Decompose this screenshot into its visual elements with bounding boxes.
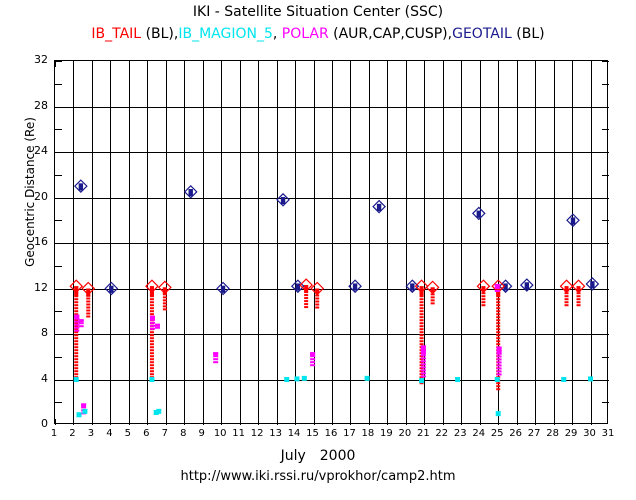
data-point-dot bbox=[420, 325, 424, 327]
x-tick-label: 2 bbox=[62, 428, 82, 439]
y-tick-label: 28 bbox=[8, 99, 48, 112]
data-point-dot bbox=[150, 355, 154, 357]
data-point-dot bbox=[150, 367, 154, 369]
data-point-dot bbox=[150, 340, 154, 342]
x-tick-label: 5 bbox=[118, 428, 138, 439]
data-point-dot bbox=[74, 370, 78, 372]
data-point-dot bbox=[481, 298, 485, 300]
data-trace-head bbox=[163, 287, 167, 294]
x-tick-label: 21 bbox=[413, 428, 433, 439]
data-point-dot bbox=[74, 343, 78, 345]
data-point-dot bbox=[496, 301, 500, 303]
data-point-dot bbox=[304, 294, 308, 296]
data-trace-head bbox=[81, 403, 86, 406]
data-point-dot bbox=[431, 302, 435, 304]
data-point-dot bbox=[481, 292, 485, 294]
data-point-dot bbox=[304, 300, 308, 302]
x-tick-label: 31 bbox=[598, 428, 618, 439]
data-point-dot bbox=[315, 304, 319, 306]
data-point-dot bbox=[496, 310, 500, 312]
y-tick-label: 16 bbox=[8, 235, 48, 248]
data-point-dot bbox=[150, 370, 154, 372]
data-point-dot bbox=[74, 324, 79, 326]
data-point-dot bbox=[315, 298, 319, 300]
data-point-dot bbox=[421, 366, 426, 368]
data-point-dot bbox=[150, 343, 154, 345]
data-point-dot bbox=[496, 334, 500, 336]
x-axis-label: July2000 bbox=[0, 448, 636, 464]
plot-area bbox=[54, 60, 608, 424]
data-point-dot bbox=[74, 340, 78, 342]
data-point-dot bbox=[310, 364, 315, 366]
data-point-dot bbox=[86, 310, 90, 312]
data-point-dot bbox=[74, 304, 78, 306]
data-point-dot bbox=[150, 334, 154, 336]
data-point-dot bbox=[565, 298, 569, 300]
data-point-dot bbox=[163, 296, 167, 298]
marker-square bbox=[561, 377, 566, 382]
data-point-dot bbox=[421, 363, 426, 365]
data-point-dot bbox=[213, 355, 218, 357]
x-tick-label: 1 bbox=[44, 428, 64, 439]
data-point-dot bbox=[421, 369, 426, 371]
data-trace-head bbox=[420, 286, 424, 296]
x-tick-label: 11 bbox=[229, 428, 249, 439]
legend-part-7: (BL) bbox=[512, 26, 545, 42]
data-trace-head bbox=[150, 286, 154, 296]
marker-diamond-core bbox=[296, 283, 300, 290]
x-tick-label: 27 bbox=[524, 428, 544, 439]
data-point-dot bbox=[163, 299, 167, 301]
x-tick-label: 12 bbox=[247, 428, 267, 439]
data-point-dot bbox=[431, 296, 435, 298]
data-point-dot bbox=[420, 310, 424, 312]
marker-square bbox=[294, 376, 299, 381]
data-point-dot bbox=[163, 305, 167, 307]
data-trace-head bbox=[155, 324, 160, 327]
x-tick-label: 22 bbox=[432, 428, 452, 439]
data-point-dot bbox=[565, 292, 569, 294]
data-point-dot bbox=[497, 356, 502, 358]
marker-diamond-core bbox=[109, 286, 113, 293]
data-point-dot bbox=[74, 373, 78, 375]
data-point-dot bbox=[150, 298, 154, 300]
data-point-dot bbox=[577, 301, 581, 303]
legend-part-4: POLAR bbox=[282, 26, 333, 42]
data-point-dot bbox=[420, 337, 424, 339]
data-point-dot bbox=[420, 334, 424, 336]
data-point-dot bbox=[420, 331, 424, 333]
data-point-dot bbox=[74, 346, 78, 348]
data-trace-head bbox=[86, 289, 90, 297]
x-tick-label: 6 bbox=[136, 428, 156, 439]
y-tick-label: 32 bbox=[8, 53, 48, 66]
data-trace-head bbox=[431, 287, 435, 292]
data-point-dot bbox=[421, 354, 426, 356]
data-trace-head bbox=[565, 286, 569, 292]
data-trace-head bbox=[315, 289, 319, 294]
data-point-dot bbox=[420, 316, 424, 318]
marker-square bbox=[496, 411, 501, 416]
data-point-dot bbox=[421, 375, 426, 377]
data-point-dot bbox=[86, 313, 90, 315]
x-tick-label: 23 bbox=[450, 428, 470, 439]
legend-part-3: , bbox=[273, 26, 282, 42]
data-trace-head bbox=[74, 286, 78, 296]
x-tick-label: 19 bbox=[376, 428, 396, 439]
marker-diamond-core bbox=[571, 217, 575, 224]
y-tick-label: 0 bbox=[8, 417, 48, 430]
x-tick-label: 25 bbox=[487, 428, 507, 439]
data-point-dot bbox=[163, 302, 167, 304]
data-point-dot bbox=[497, 365, 502, 367]
x-tick-label: 20 bbox=[395, 428, 415, 439]
data-point-dot bbox=[79, 322, 84, 324]
chart-legend-line: IB_TAIL (BL),IB_MAGION_5, POLAR (AUR,CAP… bbox=[0, 26, 636, 42]
data-point-dot bbox=[79, 325, 84, 327]
marker-diamond-core bbox=[525, 282, 529, 289]
marker-diamond-core bbox=[79, 183, 83, 190]
data-point-dot bbox=[496, 331, 500, 333]
y-tick-label: 12 bbox=[8, 281, 48, 294]
data-point-dot bbox=[497, 374, 502, 376]
data-point-dot bbox=[150, 304, 154, 306]
data-point-dot bbox=[420, 322, 424, 324]
marker-square bbox=[302, 376, 307, 381]
data-point-dot bbox=[315, 301, 319, 303]
x-tick-label: 4 bbox=[99, 428, 119, 439]
data-point-dot bbox=[481, 304, 485, 306]
x-tick-label: 17 bbox=[339, 428, 359, 439]
data-point-dot bbox=[481, 295, 485, 297]
data-point-dot bbox=[81, 406, 86, 408]
data-point-dot bbox=[565, 301, 569, 303]
data-point-dot bbox=[74, 327, 79, 329]
data-point-dot bbox=[74, 301, 78, 303]
data-point-dot bbox=[577, 292, 581, 294]
data-point-dot bbox=[420, 307, 424, 309]
data-point-dot bbox=[496, 343, 500, 345]
data-point-dot bbox=[496, 322, 500, 324]
marker-square bbox=[74, 377, 79, 382]
data-point-dot bbox=[150, 313, 154, 315]
data-point-dot bbox=[74, 367, 78, 369]
data-point-dot bbox=[74, 330, 79, 332]
data-point-dot bbox=[310, 358, 315, 360]
data-trace-head bbox=[497, 347, 502, 355]
data-point-dot bbox=[496, 319, 500, 321]
data-point-dot bbox=[74, 361, 78, 363]
data-point-dot bbox=[150, 349, 154, 351]
data-point-dot bbox=[496, 382, 500, 384]
chart-title: IKI - Satellite Situation Center (SSC) bbox=[0, 4, 636, 20]
data-point-dot bbox=[496, 304, 500, 306]
data-trace-head bbox=[310, 352, 315, 356]
data-trace-head bbox=[495, 284, 500, 287]
data-point-dot bbox=[497, 371, 502, 373]
legend-part-5: (AUR,CAP,CUSP), bbox=[333, 26, 452, 42]
data-point-dot bbox=[497, 368, 502, 370]
data-point-dot bbox=[310, 361, 315, 363]
data-point-dot bbox=[74, 364, 78, 366]
x-axis-year: 2000 bbox=[320, 448, 356, 464]
data-point-dot bbox=[150, 364, 154, 366]
data-point-dot bbox=[496, 298, 500, 300]
data-point-dot bbox=[565, 304, 569, 306]
marker-square bbox=[77, 412, 82, 417]
x-tick-label: 7 bbox=[155, 428, 175, 439]
plot-canvas bbox=[55, 61, 609, 425]
data-trace-head bbox=[79, 319, 84, 322]
x-tick-label: 10 bbox=[210, 428, 230, 439]
data-point-dot bbox=[421, 357, 426, 359]
data-point-dot bbox=[421, 360, 426, 362]
marker-square bbox=[82, 409, 87, 414]
data-trace-head bbox=[421, 345, 426, 354]
figure-root: IKI - Satellite Situation Center (SSC) I… bbox=[0, 0, 636, 500]
data-point-dot bbox=[150, 358, 154, 360]
y-tick-label: 8 bbox=[8, 326, 48, 339]
data-point-dot bbox=[150, 337, 154, 339]
data-point-dot bbox=[86, 316, 90, 318]
data-point-dot bbox=[496, 325, 500, 327]
legend-part-2: IB_MAGION_5 bbox=[178, 26, 273, 42]
marker-diamond-core bbox=[477, 211, 481, 218]
data-point-dot bbox=[74, 358, 78, 360]
marker-diamond-core bbox=[377, 204, 381, 211]
y-tick-label: 4 bbox=[8, 372, 48, 385]
y-tick-label: 24 bbox=[8, 144, 48, 157]
marker-square bbox=[156, 409, 161, 414]
data-point-dot bbox=[496, 337, 500, 339]
marker-diamond-core bbox=[590, 281, 594, 288]
data-point-dot bbox=[86, 301, 90, 303]
x-tick-label: 24 bbox=[469, 428, 489, 439]
data-point-dot bbox=[496, 328, 500, 330]
data-point-dot bbox=[74, 349, 78, 351]
data-point-dot bbox=[420, 298, 424, 300]
marker-diamond-core bbox=[410, 283, 414, 290]
legend-part-0: IB_TAIL bbox=[91, 26, 145, 42]
x-tick-label: 18 bbox=[358, 428, 378, 439]
data-point-dot bbox=[497, 359, 502, 361]
data-point-dot bbox=[150, 310, 154, 312]
data-point-dot bbox=[431, 293, 435, 295]
data-point-dot bbox=[213, 358, 218, 360]
data-trace-head bbox=[74, 315, 79, 319]
marker-square bbox=[419, 378, 424, 383]
data-point-dot bbox=[315, 295, 319, 297]
data-point-dot bbox=[496, 388, 500, 390]
data-point-dot bbox=[86, 304, 90, 306]
x-tick-label: 8 bbox=[173, 428, 193, 439]
x-tick-label: 13 bbox=[266, 428, 286, 439]
data-point-dot bbox=[421, 372, 426, 374]
data-point-dot bbox=[420, 304, 424, 306]
data-point-dot bbox=[496, 313, 500, 315]
data-trace-head bbox=[150, 316, 155, 320]
data-trace-head bbox=[304, 285, 308, 292]
data-point-dot bbox=[86, 298, 90, 300]
data-point-dot bbox=[420, 301, 424, 303]
x-tick-label: 16 bbox=[321, 428, 341, 439]
x-tick-label: 30 bbox=[580, 428, 600, 439]
x-tick-label: 9 bbox=[192, 428, 212, 439]
data-point-dot bbox=[420, 319, 424, 321]
data-point-dot bbox=[150, 328, 155, 330]
data-point-dot bbox=[213, 361, 218, 363]
data-point-dot bbox=[577, 298, 581, 300]
data-point-dot bbox=[150, 331, 154, 333]
data-point-dot bbox=[86, 307, 90, 309]
data-point-dot bbox=[150, 373, 154, 375]
data-point-dot bbox=[304, 306, 308, 308]
data-point-dot bbox=[420, 328, 424, 330]
x-tick-label: 3 bbox=[81, 428, 101, 439]
data-point-dot bbox=[304, 297, 308, 299]
marker-square bbox=[588, 376, 593, 381]
data-point-dot bbox=[150, 361, 154, 363]
data-trace-head bbox=[213, 352, 218, 355]
data-point-dot bbox=[150, 322, 155, 324]
data-trace-head bbox=[481, 286, 485, 291]
marker-square bbox=[455, 377, 460, 382]
data-point-dot bbox=[163, 308, 167, 310]
data-point-dot bbox=[496, 340, 500, 342]
data-point-dot bbox=[495, 290, 500, 292]
x-tick-label: 26 bbox=[506, 428, 526, 439]
y-tick-label: 20 bbox=[8, 190, 48, 203]
marker-square bbox=[149, 377, 154, 382]
data-point-dot bbox=[577, 304, 581, 306]
marker-square bbox=[365, 376, 370, 381]
data-point-dot bbox=[74, 310, 78, 312]
data-point-dot bbox=[74, 355, 78, 357]
data-point-dot bbox=[577, 295, 581, 297]
marker-square bbox=[495, 377, 500, 382]
data-point-dot bbox=[150, 301, 154, 303]
data-point-dot bbox=[74, 321, 79, 323]
data-point-dot bbox=[495, 287, 500, 289]
x-tick-label: 15 bbox=[303, 428, 323, 439]
data-point-dot bbox=[497, 362, 502, 364]
marker-diamond-core bbox=[221, 286, 225, 293]
legend-part-1: (BL), bbox=[146, 26, 179, 42]
data-point-dot bbox=[565, 295, 569, 297]
data-point-dot bbox=[420, 313, 424, 315]
data-point-dot bbox=[496, 316, 500, 318]
x-axis-month: July bbox=[281, 448, 306, 464]
data-point-dot bbox=[150, 346, 154, 348]
data-point-dot bbox=[150, 325, 155, 327]
data-point-dot bbox=[304, 303, 308, 305]
data-point-dot bbox=[150, 352, 154, 354]
x-tick-label: 28 bbox=[543, 428, 563, 439]
data-point-dot bbox=[74, 352, 78, 354]
source-url: http://www.iki.rssi.ru/vprokhor/camp2.ht… bbox=[0, 469, 636, 484]
data-point-dot bbox=[74, 337, 78, 339]
data-point-dot bbox=[420, 343, 424, 345]
data-point-dot bbox=[431, 299, 435, 301]
legend-part-6: GEOTAIL bbox=[452, 26, 512, 42]
data-point-dot bbox=[74, 334, 78, 336]
data-point-dot bbox=[74, 307, 78, 309]
data-point-dot bbox=[74, 298, 78, 300]
x-tick-label: 29 bbox=[561, 428, 581, 439]
data-point-dot bbox=[155, 327, 160, 329]
marker-diamond-core bbox=[353, 283, 357, 290]
data-trace-head bbox=[577, 286, 581, 292]
x-tick-label: 14 bbox=[284, 428, 304, 439]
data-point-dot bbox=[150, 307, 154, 309]
data-point-dot bbox=[481, 301, 485, 303]
marker-diamond-core bbox=[281, 197, 285, 204]
data-point-dot bbox=[496, 385, 500, 387]
data-point-dot bbox=[420, 340, 424, 342]
marker-diamond-core bbox=[189, 189, 193, 196]
data-point-dot bbox=[496, 307, 500, 309]
data-point-dot bbox=[315, 307, 319, 309]
marker-square bbox=[284, 377, 289, 382]
